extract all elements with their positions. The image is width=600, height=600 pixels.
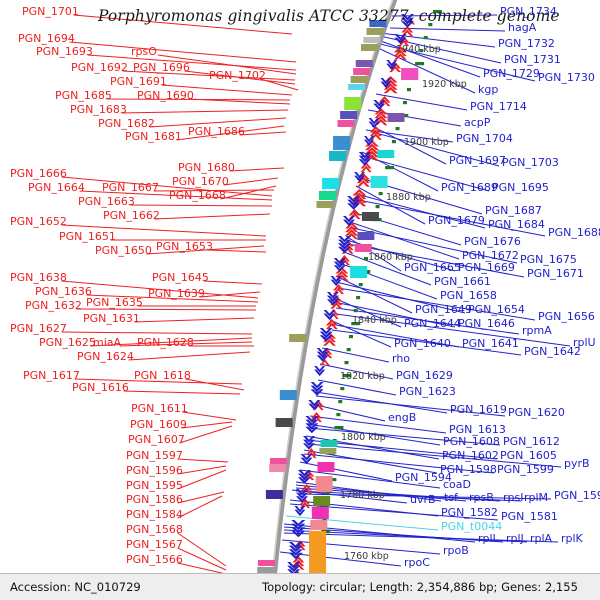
gene-label-pgn_1584[interactable]: PGN_1584 bbox=[126, 509, 183, 520]
gene-label-pgn_1697[interactable]: PGN_1697 bbox=[449, 155, 506, 166]
cog-block[interactable] bbox=[357, 232, 374, 240]
gene-label-pgn_1632[interactable]: PGN_1632 bbox=[25, 300, 82, 311]
gene-label-pgn_1582[interactable]: PGN_1582 bbox=[441, 507, 498, 518]
gene-label-pgn_1685[interactable]: PGN_1685 bbox=[55, 90, 112, 101]
cog-block[interactable] bbox=[319, 448, 336, 454]
gene-label-pgn_1671[interactable]: PGN_1671 bbox=[527, 268, 584, 279]
gene-label-pgn_1658[interactable]: PGN_1658 bbox=[440, 290, 497, 301]
gene-label-pgn_1653[interactable]: PGN_1653 bbox=[156, 241, 213, 252]
gene-label-pgn_1652[interactable]: PGN_1652 bbox=[10, 216, 67, 227]
leader-line bbox=[312, 404, 385, 421]
gene-label-rpsi[interactable]: rpsI bbox=[503, 492, 523, 503]
cog-block[interactable] bbox=[309, 531, 326, 573]
gene-label-pgn_1596[interactable]: PGN_1596 bbox=[126, 465, 183, 476]
gene-label-pgn_1609[interactable]: PGN_1609 bbox=[130, 419, 187, 430]
page-title: Porphyromonas gingivalis ATCC 33277, com… bbox=[98, 7, 560, 25]
gene-label-rpll[interactable]: rplL bbox=[478, 533, 499, 544]
gene-label-pgn_1618[interactable]: PGN_1618 bbox=[134, 370, 191, 381]
gene-label-pgn_1612[interactable]: PGN_1612 bbox=[503, 436, 560, 447]
cog-block[interactable] bbox=[351, 76, 368, 83]
axis-tick-label: 1780 kbp bbox=[340, 490, 385, 501]
gene-label-pgn_1704[interactable]: PGN_1704 bbox=[456, 133, 513, 144]
reverse-gene-arrow[interactable] bbox=[369, 118, 380, 128]
leader-line bbox=[183, 412, 236, 420]
minor-tick-mark bbox=[338, 400, 342, 403]
genome-map-viewer: Porphyromonas gingivalis ATCC 33277, com… bbox=[0, 0, 600, 600]
minor-tick-mark bbox=[347, 348, 351, 351]
gene-label-pgn_1681[interactable]: PGN_1681 bbox=[125, 131, 182, 142]
gene-label-pgn_1684[interactable]: PGN_1684 bbox=[488, 219, 545, 230]
gene-label-pgn_1649[interactable]: PGN_1649 bbox=[415, 304, 472, 315]
cog-block[interactable] bbox=[258, 560, 275, 566]
forward-gene-arrow[interactable] bbox=[326, 319, 338, 329]
gene-label-pgn_1701[interactable]: PGN_1701 bbox=[22, 6, 79, 17]
leader-line bbox=[178, 496, 222, 518]
gene-label-pgn_1666[interactable]: PGN_1666 bbox=[10, 168, 67, 179]
leader-line bbox=[77, 309, 256, 310]
minor-tick-mark bbox=[376, 205, 380, 208]
gene-label-pgn_1611[interactable]: PGN_1611 bbox=[131, 403, 188, 414]
gene-label-pgn_1586[interactable]: PGN_1586 bbox=[126, 494, 183, 505]
gene-label-pgn_1624[interactable]: PGN_1624 bbox=[77, 351, 134, 362]
reverse-gene-arrow[interactable] bbox=[305, 416, 318, 433]
cog-block[interactable] bbox=[363, 37, 380, 43]
leader-line bbox=[135, 318, 254, 322]
reverse-gene-arrow[interactable] bbox=[303, 436, 315, 450]
leader-line bbox=[124, 391, 240, 394]
rna-label-pgn_t0044[interactable]: PGN_t0044 bbox=[441, 521, 502, 532]
gene-label-pgn_1732[interactable]: PGN_1732 bbox=[498, 38, 555, 49]
gene-label-pgn_1690[interactable]: PGN_1690 bbox=[137, 90, 194, 101]
reverse-gene-arrow[interactable] bbox=[324, 310, 336, 320]
gene-label-rplk[interactable]: rplK bbox=[561, 533, 583, 544]
leader-line bbox=[178, 533, 226, 566]
gene-label-miaa[interactable]: miaA bbox=[93, 337, 121, 348]
gene-label-pgn_1628[interactable]: PGN_1628 bbox=[137, 337, 194, 348]
cog-block[interactable] bbox=[319, 191, 336, 200]
cog-block[interactable] bbox=[388, 113, 405, 122]
cog-block[interactable] bbox=[280, 390, 297, 400]
gene-label-pgn_1675[interactable]: PGN_1675 bbox=[520, 254, 577, 265]
gene-label-pgn_1734[interactable]: PGN_1734 bbox=[500, 6, 557, 17]
gene-label-pgn_1646[interactable]: PGN_1646 bbox=[458, 318, 515, 329]
leader-line bbox=[155, 214, 270, 219]
leader-line bbox=[322, 348, 389, 362]
axis-tick-label: 1840 kbp bbox=[352, 315, 397, 326]
gene-label-pgn_1682[interactable]: PGN_1682 bbox=[98, 118, 155, 129]
gene-label-pgn_1620[interactable]: PGN_1620 bbox=[508, 407, 565, 418]
cog-block[interactable] bbox=[377, 150, 394, 158]
gene-label-pgn_1599[interactable]: PGN_1599 bbox=[497, 464, 554, 475]
gene-label-rpob[interactable]: rpoB bbox=[443, 545, 469, 556]
leader-line bbox=[62, 177, 272, 196]
major-tick-mark bbox=[415, 62, 424, 65]
gene-label-pgn_1638[interactable]: PGN_1638 bbox=[10, 272, 67, 283]
status-bar: Accession: NC_010729 Topology: circular;… bbox=[0, 573, 600, 600]
gene-label-pgn_1730[interactable]: PGN_1730 bbox=[538, 72, 595, 83]
cog-block[interactable] bbox=[329, 151, 346, 161]
minor-tick-mark bbox=[407, 88, 411, 91]
gene-label-rpoc[interactable]: rpoC bbox=[404, 557, 430, 568]
gene-label-pgn_1663[interactable]: PGN_1663 bbox=[78, 196, 135, 207]
gene-label-pgn_1665[interactable]: PGN_1665 bbox=[404, 262, 461, 273]
gene-label-pgn_1642[interactable]: PGN_1642 bbox=[524, 346, 581, 357]
gene-label-pgn_1714[interactable]: PGN_1714 bbox=[470, 101, 527, 112]
cog-block[interactable] bbox=[312, 507, 329, 519]
cog-block[interactable] bbox=[313, 496, 330, 506]
cog-block[interactable] bbox=[344, 97, 361, 110]
reverse-gene-arrow[interactable] bbox=[331, 276, 342, 286]
gene-label-rplm[interactable]: rplM bbox=[524, 492, 548, 503]
gene-label-pgn_1669[interactable]: PGN_1669 bbox=[458, 262, 515, 273]
cog-block[interactable] bbox=[348, 84, 365, 90]
gene-label-pgn_1597[interactable]: PGN_1597 bbox=[126, 450, 183, 461]
gene-label-pgn_1651[interactable]: PGN_1651 bbox=[59, 231, 116, 242]
axis-tick-label: 1860 kbp bbox=[368, 252, 413, 263]
gene-label-rho[interactable]: rho bbox=[392, 353, 410, 364]
gene-label-pgn_1627[interactable]: PGN_1627 bbox=[10, 323, 67, 334]
gene-label-pgn_1693[interactable]: PGN_1693 bbox=[36, 46, 93, 57]
cog-block[interactable] bbox=[362, 212, 379, 221]
minor-tick-mark bbox=[359, 283, 363, 286]
leader-line bbox=[178, 492, 224, 503]
cog-block[interactable] bbox=[317, 462, 334, 472]
gene-label-pgn_1623[interactable]: PGN_1623 bbox=[399, 386, 456, 397]
cog-block[interactable] bbox=[355, 244, 372, 252]
gene-label-tsf[interactable]: tsf bbox=[444, 492, 458, 503]
gene-label-pgn_1654[interactable]: PGN_1654 bbox=[468, 304, 525, 315]
leader-line bbox=[224, 178, 278, 185]
gene-label-pgn_1645[interactable]: PGN_1645 bbox=[152, 272, 209, 283]
gene-label-pgn_1566[interactable]: PGN_1566 bbox=[126, 554, 183, 565]
gene-label-pgn_1641[interactable]: PGN_1641 bbox=[462, 338, 519, 349]
minor-tick-mark bbox=[349, 335, 353, 338]
gene-label-pgn_1686[interactable]: PGN_1686 bbox=[188, 126, 245, 137]
forward-gene-arrow[interactable] bbox=[401, 26, 413, 36]
gene-label-pgn_1629[interactable]: PGN_1629 bbox=[396, 370, 453, 381]
gene-label-pgn_1703[interactable]: PGN_1703 bbox=[502, 157, 559, 168]
leader-line bbox=[70, 42, 296, 62]
axis-tick-label: 1920 kbp bbox=[422, 79, 467, 90]
gene-label-pgn_1696[interactable]: PGN_1696 bbox=[133, 62, 190, 73]
axis-tick-label: 1800 kbp bbox=[341, 432, 386, 443]
cog-block[interactable] bbox=[350, 266, 367, 278]
gene-label-pgn_1602[interactable]: PGN_1602 bbox=[442, 450, 499, 461]
gene-label-engb[interactable]: engB bbox=[388, 412, 416, 423]
axis-tick-label: 1940 kbp bbox=[396, 44, 441, 55]
reverse-gene-arrow[interactable] bbox=[291, 520, 305, 537]
leader-line bbox=[182, 422, 232, 428]
axis-tick-label: 1760 kbp bbox=[344, 551, 389, 562]
leader-line bbox=[122, 110, 288, 113]
cog-block[interactable] bbox=[320, 440, 337, 447]
gene-label-pyrb[interactable]: pyrB bbox=[564, 458, 590, 469]
gene-label-pgn_1680[interactable]: PGN_1680 bbox=[178, 162, 235, 173]
cog-block[interactable] bbox=[401, 68, 418, 80]
cog-block[interactable] bbox=[316, 201, 333, 208]
leader-line bbox=[240, 132, 286, 135]
minor-tick-mark bbox=[424, 36, 428, 39]
topology-text: Topology: circular; Length: 2,354,886 bp… bbox=[262, 580, 578, 594]
gene-label-pgn_1605[interactable]: PGN_1605 bbox=[500, 450, 557, 461]
minor-tick-mark bbox=[379, 192, 383, 195]
gene-label-pgn_1656[interactable]: PGN_1656 bbox=[538, 311, 595, 322]
reverse-gene-arrow[interactable] bbox=[311, 382, 324, 396]
minor-tick-mark bbox=[340, 387, 344, 390]
gene-label-rpma[interactable]: rpmA bbox=[522, 325, 552, 336]
minor-tick-mark bbox=[396, 127, 400, 130]
gene-label-pgn_1688[interactable]: PGN_1688 bbox=[548, 227, 600, 238]
gene-label-pgn_1672[interactable]: PGN_1672 bbox=[462, 250, 519, 261]
minor-tick-mark bbox=[392, 140, 396, 143]
cog-block[interactable] bbox=[269, 464, 286, 472]
axis-tick-label: 1900 kbp bbox=[404, 137, 449, 148]
minor-tick-mark bbox=[356, 296, 360, 299]
gene-label-pgn_1676[interactable]: PGN_1676 bbox=[464, 236, 521, 247]
leader-line bbox=[204, 281, 262, 284]
gene-label-pgn_1625[interactable]: PGN_1625 bbox=[39, 337, 96, 348]
cog-block[interactable] bbox=[361, 44, 378, 51]
gene-label-pgn_1567[interactable]: PGN_1567 bbox=[126, 539, 183, 550]
cog-block[interactable] bbox=[371, 176, 388, 188]
forward-gene-arrow[interactable] bbox=[333, 284, 344, 294]
gene-label-pgn_1691[interactable]: PGN_1691 bbox=[110, 76, 167, 87]
gene-label-pgn_1679[interactable]: PGN_1679 bbox=[428, 215, 485, 226]
leader-line bbox=[230, 168, 284, 171]
gene-label-pgn_1664[interactable]: PGN_1664 bbox=[28, 182, 85, 193]
gene-label-pgn_1667[interactable]: PGN_1667 bbox=[102, 182, 159, 193]
gene-label-pgn_1581[interactable]: PGN_1581 bbox=[501, 511, 558, 522]
cog-block[interactable] bbox=[276, 418, 293, 427]
gene-label-pgn_1692[interactable]: PGN_1692 bbox=[71, 62, 128, 73]
gene-label-rplj[interactable]: rplJ bbox=[506, 533, 524, 544]
leader-line bbox=[208, 250, 266, 252]
leader-line bbox=[261, 79, 298, 90]
gene-label-pgn_1613[interactable]: PGN_1613 bbox=[449, 424, 506, 435]
gene-label-pgn_1662[interactable]: PGN_1662 bbox=[103, 210, 160, 221]
cog-block[interactable] bbox=[289, 334, 306, 342]
gene-label-pgn_1689[interactable]: PGN_1689 bbox=[441, 182, 498, 193]
gene-label-pgn_1683[interactable]: PGN_1683 bbox=[70, 104, 127, 115]
gene-label-pgn_1670[interactable]: PGN_1670 bbox=[172, 176, 229, 187]
cog-block[interactable] bbox=[310, 520, 327, 530]
gene-label-pgn_1608[interactable]: PGN_1608 bbox=[443, 436, 500, 447]
leader-line bbox=[129, 352, 250, 360]
cog-block[interactable] bbox=[316, 476, 333, 492]
gene-label-pgn_1607[interactable]: PGN_1607 bbox=[128, 434, 185, 445]
gene-label-kgp[interactable]: kgp bbox=[478, 84, 498, 95]
gene-label-pgn_1595[interactable]: PGN_1595 bbox=[126, 480, 183, 491]
gene-label-coad[interactable]: coaD bbox=[443, 479, 471, 490]
reverse-gene-arrow[interactable] bbox=[308, 400, 320, 410]
reverse-gene-arrow[interactable] bbox=[373, 100, 385, 110]
major-tick-mark bbox=[385, 166, 394, 169]
gene-label-pgn_1729[interactable]: PGN_1729 bbox=[483, 68, 540, 79]
gene-label-rpla[interactable]: rplA bbox=[530, 533, 552, 544]
cog-block[interactable] bbox=[270, 458, 287, 464]
gene-label-pgn_1639[interactable]: PGN_1639 bbox=[148, 288, 205, 299]
gene-label-uvrb[interactable]: uvrB bbox=[410, 494, 436, 505]
gene-label-pgn_1661[interactable]: PGN_1661 bbox=[434, 276, 491, 287]
rna-leader-lines bbox=[286, 516, 438, 530]
leader-line bbox=[186, 379, 244, 390]
gene-label-pgn_1617[interactable]: PGN_1617 bbox=[23, 370, 80, 381]
axis-tick-label: 1820 kbp bbox=[340, 371, 385, 382]
cog-block[interactable] bbox=[367, 28, 384, 35]
gene-label-pgn_1640[interactable]: PGN_1640 bbox=[394, 338, 451, 349]
gene-label-haga[interactable]: hagA bbox=[508, 22, 536, 33]
leader-line bbox=[178, 459, 228, 462]
gene-label-pgn_1568[interactable]: PGN_1568 bbox=[126, 524, 183, 535]
leader-line bbox=[180, 426, 232, 443]
reverse-gene-arrow[interactable] bbox=[314, 366, 325, 376]
gene-label-pgn_1668[interactable]: PGN_1668 bbox=[169, 190, 226, 201]
gene-label-pgn_1616[interactable]: PGN_1616 bbox=[72, 382, 129, 393]
gene-label-pgn_1631[interactable]: PGN_1631 bbox=[83, 313, 140, 324]
leader-line bbox=[130, 205, 272, 206]
leader-line bbox=[336, 276, 412, 313]
cog-block[interactable] bbox=[333, 136, 350, 150]
cog-block[interactable] bbox=[266, 490, 283, 499]
gene-label-acpp[interactable]: acpP bbox=[464, 117, 490, 128]
minor-tick-mark bbox=[403, 101, 407, 104]
accession-text: Accession: NC_010729 bbox=[10, 580, 141, 594]
cog-block[interactable] bbox=[322, 178, 339, 189]
leader-line bbox=[286, 516, 438, 530]
minor-tick-mark bbox=[336, 413, 340, 416]
leader-line bbox=[178, 548, 226, 570]
leader-line bbox=[318, 380, 396, 395]
gene-label-rpsb[interactable]: rpsB bbox=[469, 492, 494, 503]
cog-block[interactable] bbox=[338, 120, 355, 127]
gene-label-pgn_1694[interactable]: PGN_1694 bbox=[18, 33, 75, 44]
gene-label-pgn_1591[interactable]: PGN_1591 bbox=[554, 490, 600, 501]
gene-label-pgn_1650[interactable]: PGN_1650 bbox=[95, 245, 152, 256]
minor-tick-mark bbox=[354, 309, 358, 312]
cog-block[interactable] bbox=[356, 60, 373, 67]
gene-label-pgn_1644[interactable]: PGN_1644 bbox=[404, 318, 461, 329]
axis-tick-label: 1880 kbp bbox=[386, 192, 431, 203]
cog-block[interactable] bbox=[353, 68, 370, 75]
cog-block[interactable] bbox=[340, 111, 357, 119]
gene-label-pgn_1619[interactable]: PGN_1619 bbox=[450, 404, 507, 415]
gene-label-pgn_1687[interactable]: PGN_1687 bbox=[485, 205, 542, 216]
gene-label-pgn_1695[interactable]: PGN_1695 bbox=[492, 182, 549, 193]
gene-label-pgn_1635[interactable]: PGN_1635 bbox=[86, 297, 143, 308]
minor-tick-mark bbox=[345, 361, 349, 364]
forward-gene-arrow[interactable] bbox=[349, 209, 361, 219]
gene-label-pgn_1731[interactable]: PGN_1731 bbox=[504, 54, 561, 65]
leader-line bbox=[200, 292, 260, 297]
gene-label-pgn_1636[interactable]: PGN_1636 bbox=[35, 286, 92, 297]
leader-line bbox=[62, 332, 252, 334]
gene-label-pgn_1702[interactable]: PGN_1702 bbox=[209, 70, 266, 81]
reverse-gene-arrow[interactable] bbox=[294, 506, 305, 516]
gene-label-rpso[interactable]: rpsO bbox=[131, 46, 157, 57]
major-tick-mark bbox=[334, 426, 343, 429]
